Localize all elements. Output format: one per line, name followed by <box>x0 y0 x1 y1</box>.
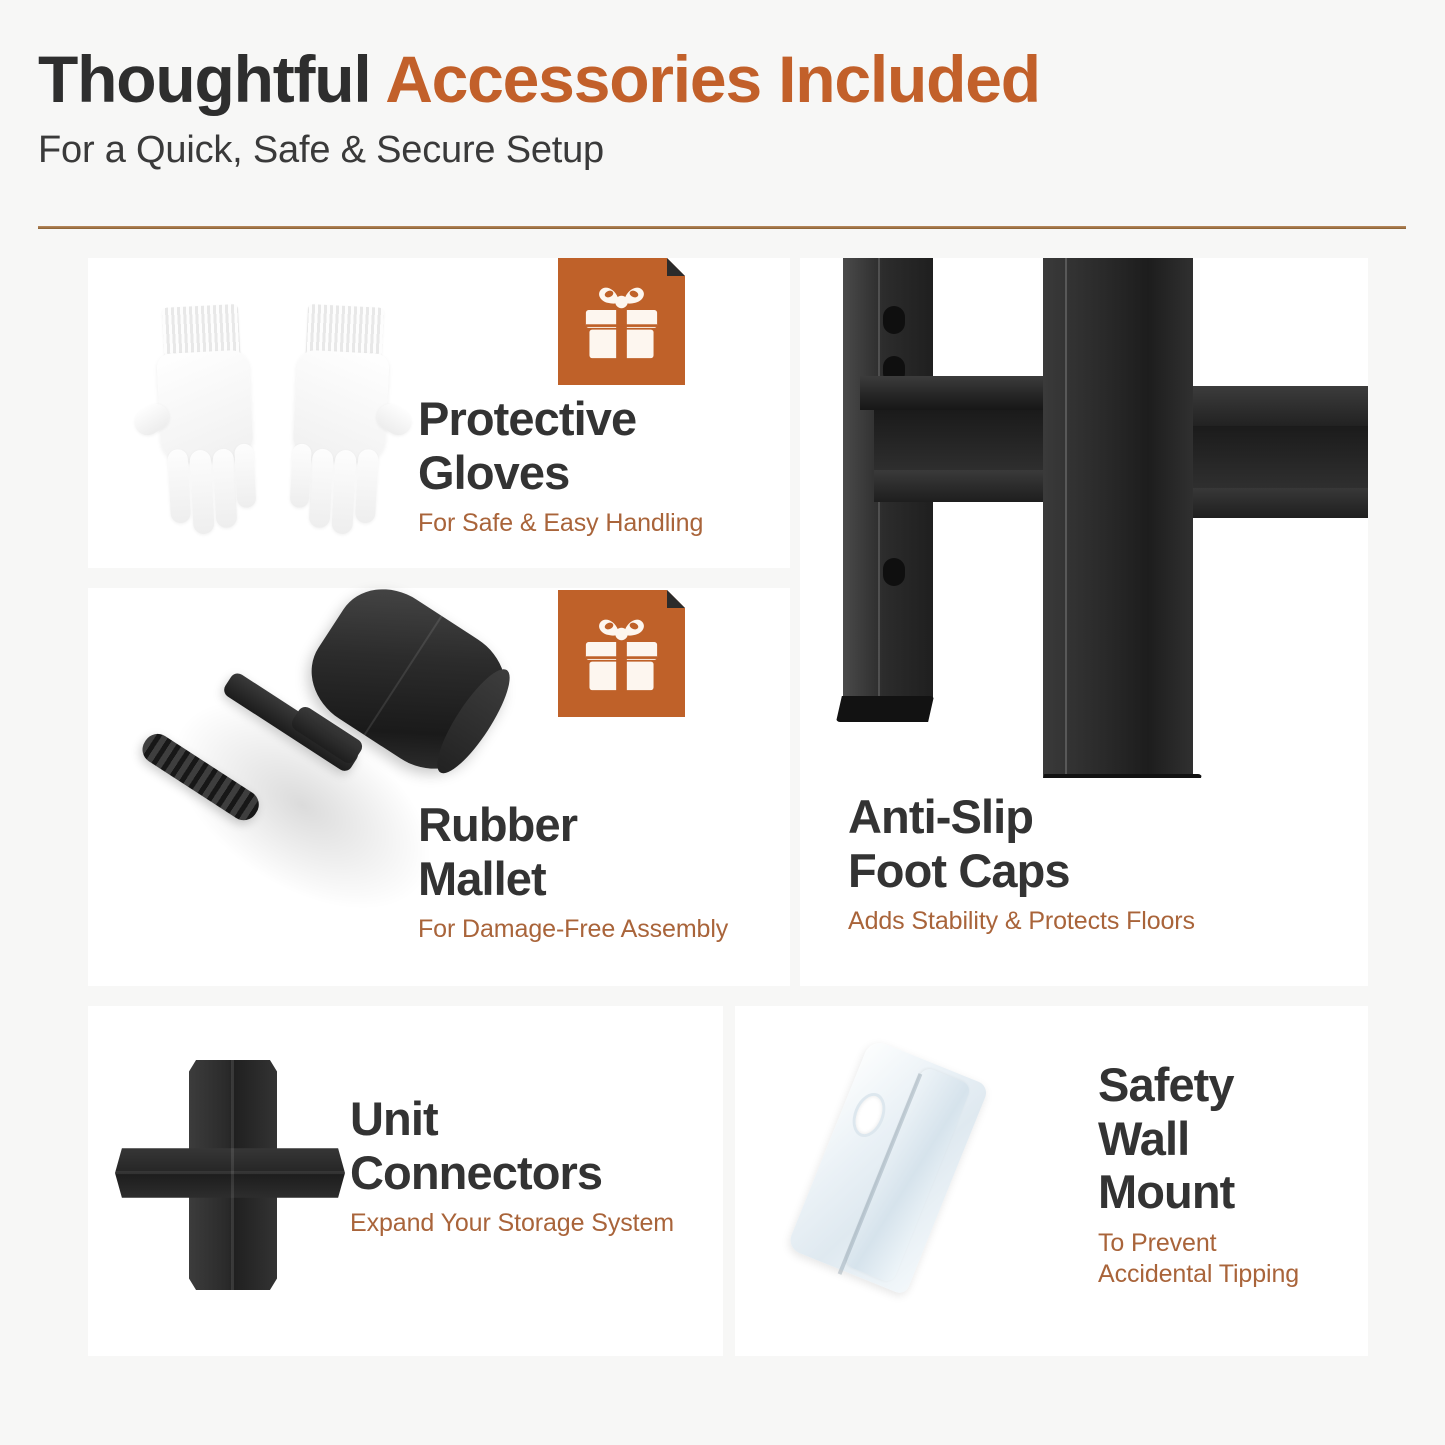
mallet-head-band <box>364 615 443 735</box>
wallmount-title: Safety Wall Mount <box>1098 1058 1378 1219</box>
gift-badge-mallet <box>558 590 685 717</box>
wall-mount-image <box>786 1044 1056 1294</box>
connector-image <box>115 1060 345 1290</box>
glove-right <box>268 297 421 552</box>
glove-finger <box>167 449 191 524</box>
gloves-title-line2: Gloves <box>418 446 569 499</box>
footcaps-text-block: Anti-Slip Foot Caps Adds Stability & Pro… <box>848 790 1268 937</box>
gift-icon <box>577 278 666 367</box>
footcaps-subtitle: Adds Stability & Protects Floors <box>848 906 1268 937</box>
gloves-title: Protective Gloves <box>418 392 778 499</box>
wallmount-subtitle-line1: To Prevent <box>1098 1229 1217 1257</box>
gloves-text-block: Protective Gloves For Safe & Easy Handli… <box>418 392 778 539</box>
glove-finger <box>290 443 312 508</box>
footcaps-title: Anti-Slip Foot Caps <box>848 790 1268 897</box>
shelf-plank-right <box>1193 386 1368 426</box>
footcaps-title-line1: Anti-Slip <box>848 790 1033 843</box>
accessory-grid: Protective Gloves For Safe & Easy Handli… <box>0 0 1445 1445</box>
foot-cap-back <box>836 696 934 722</box>
shelf-plank-right-under <box>1193 426 1368 488</box>
wallmount-title-line2: Wall <box>1098 1112 1189 1165</box>
connector-title-line1: Unit <box>350 1092 438 1145</box>
gift-icon <box>577 610 666 699</box>
connector-seam-vertical <box>231 1060 234 1290</box>
shelf-leg-front <box>1043 258 1193 778</box>
mallet-title-line1: Rubber <box>418 798 577 851</box>
leg-edge-highlight <box>1065 258 1067 778</box>
glove-finger <box>309 448 334 528</box>
glove-finger <box>212 448 237 528</box>
leg-slot <box>883 306 905 334</box>
wallmount-title-line3: Mount <box>1098 1165 1234 1218</box>
wallmount-title-line1: Safety <box>1098 1058 1234 1111</box>
foot-cap-front <box>1036 774 1202 778</box>
glove-finger <box>234 443 256 508</box>
mallet-subtitle: For Damage-Free Assembly <box>418 914 778 945</box>
mallet-head-cap <box>426 661 521 782</box>
gloves-image <box>128 300 416 548</box>
connector-title: Unit Connectors <box>350 1092 720 1199</box>
glove-left <box>126 297 279 552</box>
glove-finger <box>355 449 379 524</box>
infographic-page: Thoughtful Accessories Included For a Qu… <box>0 0 1445 1445</box>
gloves-subtitle: For Safe & Easy Handling <box>418 508 778 539</box>
mallet-title: Rubber Mallet <box>418 798 778 905</box>
connector-seam-horizontal <box>115 1171 345 1174</box>
leg-slot <box>883 558 905 586</box>
foot-caps-image <box>800 258 1368 778</box>
glove-finger <box>189 450 214 535</box>
badge-corner-fold <box>667 590 685 608</box>
badge-corner-fold <box>667 258 685 276</box>
connector-text-block: Unit Connectors Expand Your Storage Syst… <box>350 1092 720 1239</box>
gloves-title-line1: Protective <box>418 392 636 445</box>
glove-finger <box>331 450 356 535</box>
shelf-plank-right-lip <box>1193 488 1368 518</box>
connector-title-line2: Connectors <box>350 1146 602 1199</box>
gift-badge-gloves <box>558 258 685 385</box>
mallet-text-block: Rubber Mallet For Damage-Free Assembly <box>418 798 778 945</box>
mallet-title-line2: Mallet <box>418 852 546 905</box>
wallmount-subtitle-line2: Accidental Tipping <box>1098 1260 1299 1288</box>
footcaps-title-line2: Foot Caps <box>848 844 1070 897</box>
wallmount-subtitle: To Prevent Accidental Tipping <box>1098 1228 1378 1291</box>
wallmount-text-block: Safety Wall Mount To Prevent Accidental … <box>1098 1058 1378 1290</box>
connector-subtitle: Expand Your Storage System <box>350 1208 720 1239</box>
